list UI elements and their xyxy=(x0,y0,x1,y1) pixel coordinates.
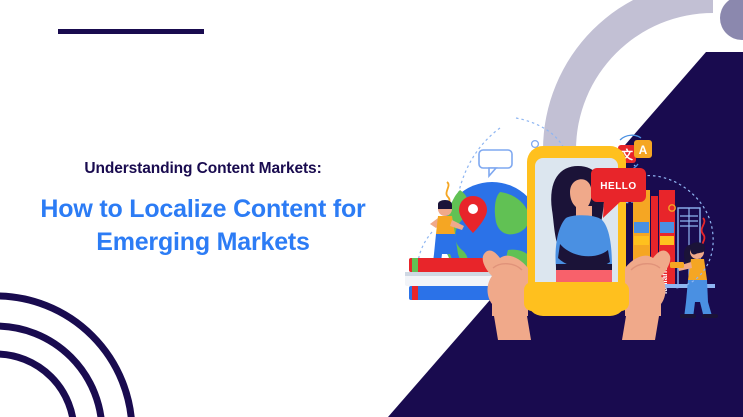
headline-line-2: Emerging Markets xyxy=(0,226,406,260)
hello-bubble-text: HELLO xyxy=(600,181,636,192)
page-title: How to Localize Content for Emerging Mar… xyxy=(0,193,406,261)
svg-text:A: A xyxy=(639,143,648,157)
slide-canvas: English Italiano xyxy=(0,0,743,417)
outline-speech-bubble xyxy=(479,150,512,176)
headline-line-1: How to Localize Content for xyxy=(40,195,365,223)
text-block: Understanding Content Markets: How to Lo… xyxy=(0,160,406,260)
reading-person xyxy=(670,242,718,318)
kicker-text: Understanding Content Markets: xyxy=(0,160,406,179)
